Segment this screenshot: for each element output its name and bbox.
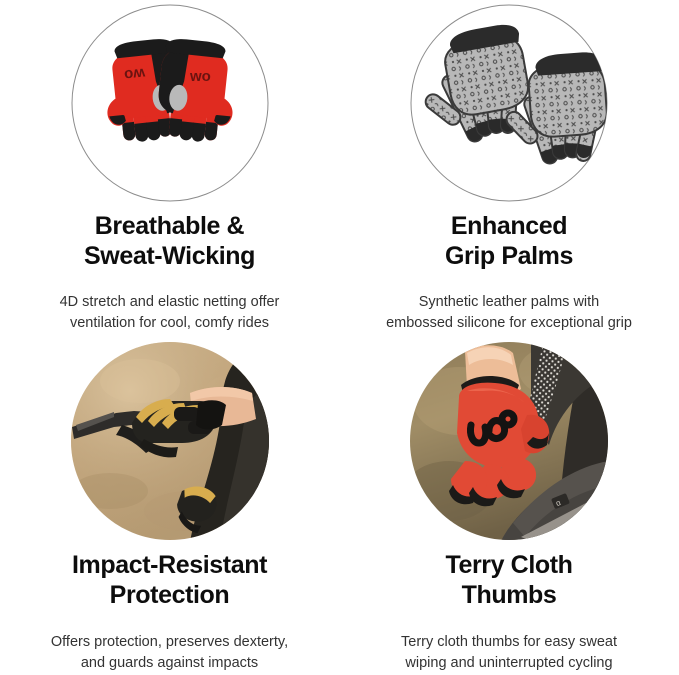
feature-grid: wo bbox=[0, 0, 679, 675]
feature-title: Breathable & Sweat-Wicking bbox=[78, 211, 261, 271]
feature-card-breathable-sweat-wicking: wo bbox=[0, 0, 339, 337]
red-glove-wiping-photo: ɑ bbox=[409, 341, 609, 541]
feature-description: 4D stretch and elastic netting offer ven… bbox=[58, 292, 282, 334]
feature-title: Impact-Resistant Protection bbox=[66, 550, 273, 610]
feature-title: Enhanced Grip Palms bbox=[439, 211, 579, 271]
gray-palm-gloves-photo bbox=[409, 3, 609, 203]
red-gloves-pair-photo: wo bbox=[70, 3, 270, 203]
feature-description: Terry cloth thumbs for easy sweat wiping… bbox=[399, 632, 619, 674]
feature-title: Terry Cloth Thumbs bbox=[439, 550, 578, 610]
feature-description: Synthetic leather palms with embossed si… bbox=[384, 292, 634, 334]
feature-card-enhanced-grip-palms: Enhanced Grip Palms Synthetic leather pa… bbox=[339, 0, 679, 337]
svg-text:wo: wo bbox=[189, 68, 211, 85]
hand-on-handlebar-photo bbox=[70, 341, 270, 541]
svg-text:wo: wo bbox=[123, 64, 147, 83]
feature-card-impact-resistant-protection: Impact-Resistant Protection Offers prote… bbox=[0, 337, 339, 675]
feature-description: Offers protection, preserves dexterty, a… bbox=[49, 632, 290, 674]
feature-card-terry-cloth-thumbs: ɑ bbox=[339, 337, 679, 675]
